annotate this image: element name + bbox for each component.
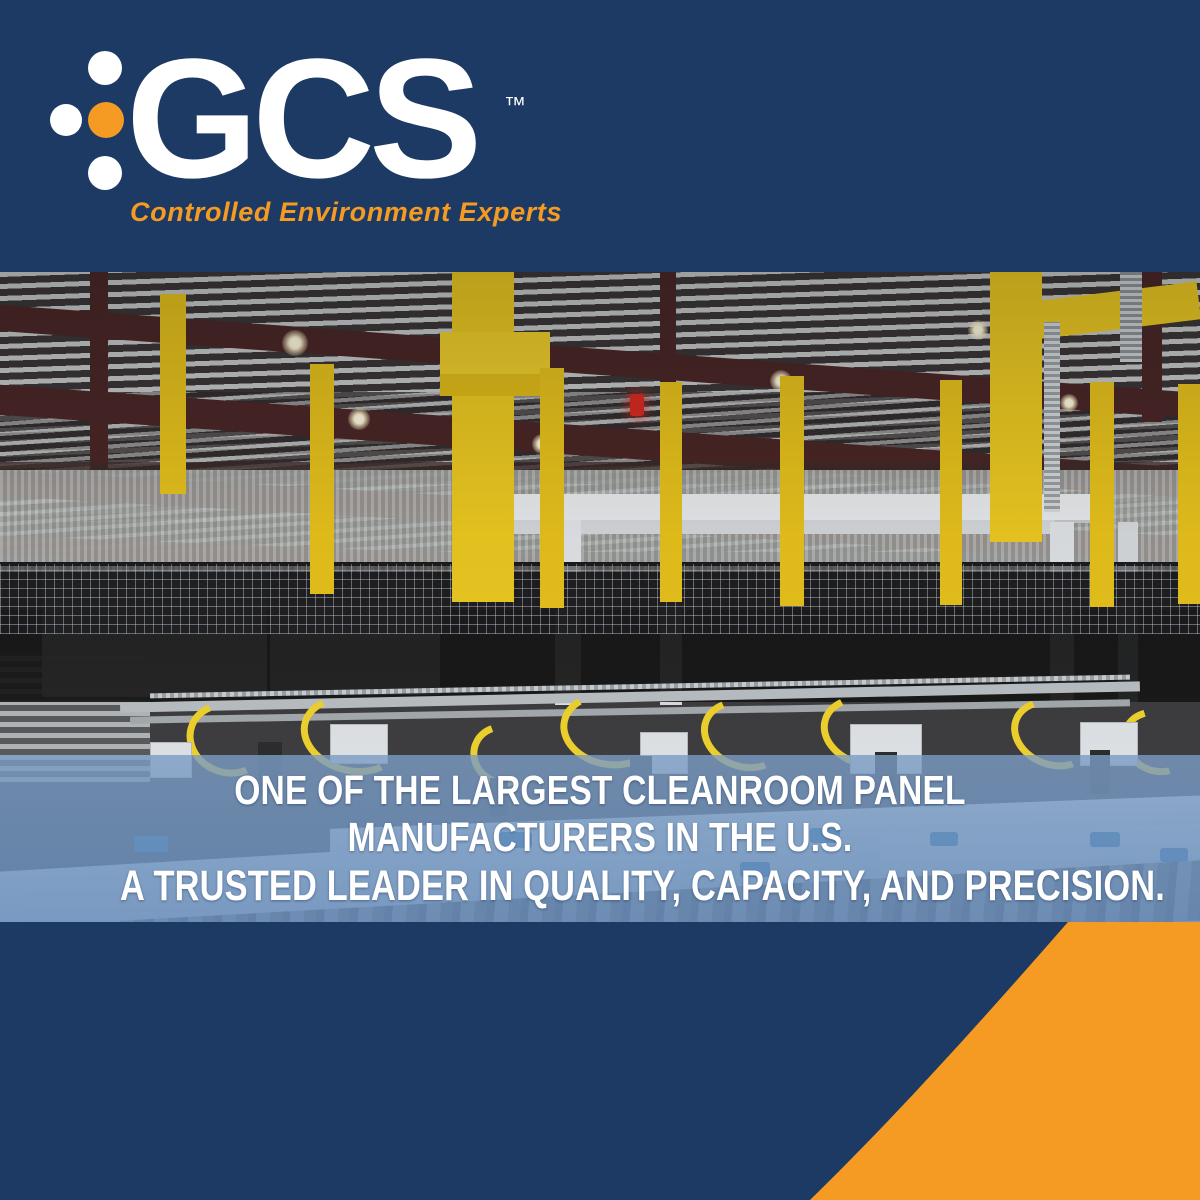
header-bar: GCS ™ Controlled Environment Experts [0, 0, 1200, 272]
logo-dot-bottom-icon [88, 156, 122, 190]
logo-dot-left-icon [50, 104, 82, 136]
logo-dot-top-icon [88, 51, 122, 85]
safety-bollard [1090, 382, 1114, 607]
ceiling-light-icon [1060, 394, 1078, 412]
ceiling-light-icon [282, 330, 308, 356]
safety-mesh-fence [0, 564, 1200, 634]
gcs-logo[interactable]: GCS ™ Controlled Environment Experts [30, 42, 550, 232]
lead-screw-actuator [1120, 272, 1142, 362]
ceiling-light-icon [968, 320, 988, 340]
safety-bollard [160, 294, 186, 494]
lead-screw-actuator [1044, 322, 1060, 512]
safety-bollard [940, 380, 962, 605]
yellow-lift-head [440, 332, 550, 378]
headline-line-1: ONE OF THE LARGEST CLEANROOM PANEL [108, 770, 1092, 811]
logo-dot-accent-icon [88, 102, 124, 138]
social-graphic-canvas: GCS ™ Controlled Environment Experts [0, 0, 1200, 1200]
headline-line-3: A TRUSTED LEADER IN QUALITY, CAPACITY, A… [120, 865, 1080, 908]
safety-bollard [660, 382, 682, 602]
logo-dot-cluster-icon [30, 48, 135, 198]
safety-bollard [310, 364, 334, 594]
yellow-lift-arm [440, 374, 556, 396]
safety-bollard [780, 376, 804, 606]
yellow-lift-column [452, 272, 514, 602]
logo-wordmark: GCS [126, 34, 476, 204]
logo-tagline: Controlled Environment Experts [130, 197, 562, 228]
safety-bollard [1178, 384, 1200, 604]
headline-banner: ONE OF THE LARGEST CLEANROOM PANEL MANUF… [0, 755, 1200, 922]
headline-line-2: MANUFACTURERS IN THE U.S. [108, 817, 1092, 858]
structural-column [90, 272, 108, 472]
footer-bar [0, 922, 1200, 1200]
orange-accent-wedge-icon [0, 922, 1200, 1200]
warning-beacon-icon [630, 394, 644, 416]
headline-text-group: ONE OF THE LARGEST CLEANROOM PANEL MANUF… [0, 770, 1200, 908]
ceiling-light-icon [348, 408, 370, 430]
safety-bollard [540, 368, 564, 608]
trademark-icon: ™ [504, 92, 527, 118]
